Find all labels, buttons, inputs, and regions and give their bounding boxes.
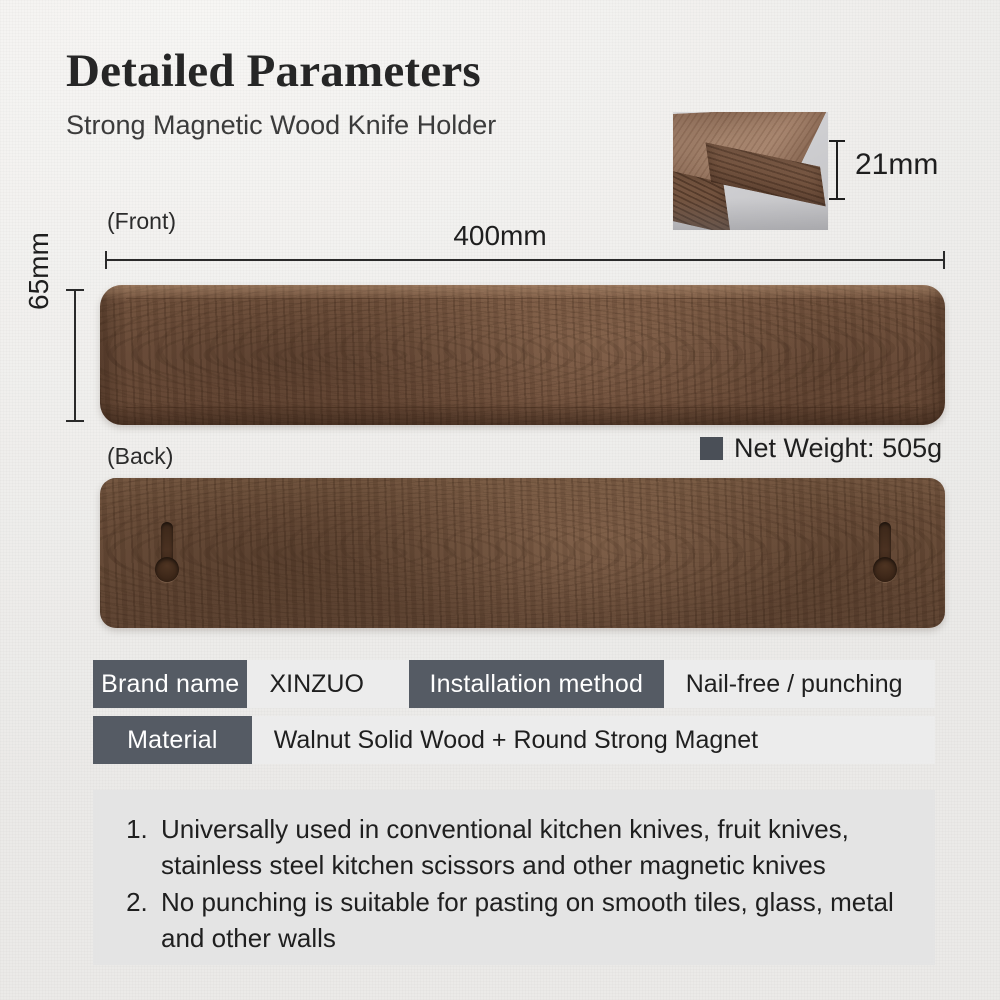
thickness-label: 21mm: [855, 148, 938, 182]
keyhole-slot-right: [872, 522, 898, 582]
length-label: 400mm: [0, 220, 1000, 252]
usage-notes-panel: Universally used in conventional kitchen…: [93, 790, 935, 965]
net-weight-callout: Net Weight: 505g: [700, 433, 942, 464]
spec-value-material: Walnut Solid Wood + Round Strong Magnet: [252, 716, 935, 764]
net-weight-label: Net Weight: 505g: [734, 433, 942, 464]
back-view-label: (Back): [107, 443, 173, 470]
height-label: 65mm: [23, 232, 55, 310]
chamfer-bottom-line: [126, 407, 919, 408]
square-bullet-icon: [700, 437, 723, 460]
spec-row: Material Walnut Solid Wood + Round Stron…: [93, 716, 935, 764]
spec-value-brand-name: XINZUO: [247, 660, 408, 708]
usage-notes-list: Universally used in conventional kitchen…: [93, 790, 935, 956]
spec-label-material: Material: [93, 716, 252, 764]
spec-row: Brand name XINZUO Installation method Na…: [93, 660, 935, 708]
knife-holder-back-view: [100, 478, 945, 628]
spec-table: Brand name XINZUO Installation method Na…: [93, 660, 935, 772]
chamfer-top-line: [126, 298, 919, 299]
keyhole-slot-left: [154, 522, 180, 582]
knife-holder-front-view: [100, 285, 945, 425]
length-dimension-line: [105, 259, 945, 261]
keyhole-round-recess: [155, 557, 179, 582]
list-item: No punching is suitable for pasting on s…: [155, 885, 905, 956]
keyhole-round-recess: [873, 557, 897, 582]
product-spec-sheet: Detailed Parameters Strong Magnetic Wood…: [0, 0, 1000, 1000]
page-title: Detailed Parameters: [66, 44, 481, 98]
list-item: Universally used in conventional kitchen…: [155, 812, 905, 883]
thickness-dimension-marker: [836, 140, 838, 200]
wood-grain-rings: [100, 478, 945, 628]
spec-label-installation-method: Installation method: [409, 660, 664, 708]
spec-label-brand-name: Brand name: [93, 660, 247, 708]
height-dimension-line: [74, 289, 76, 422]
spec-value-installation-method: Nail-free / punching: [664, 660, 935, 708]
corner-detail-photo: [673, 112, 828, 230]
page-subtitle: Strong Magnetic Wood Knife Holder: [66, 110, 496, 141]
